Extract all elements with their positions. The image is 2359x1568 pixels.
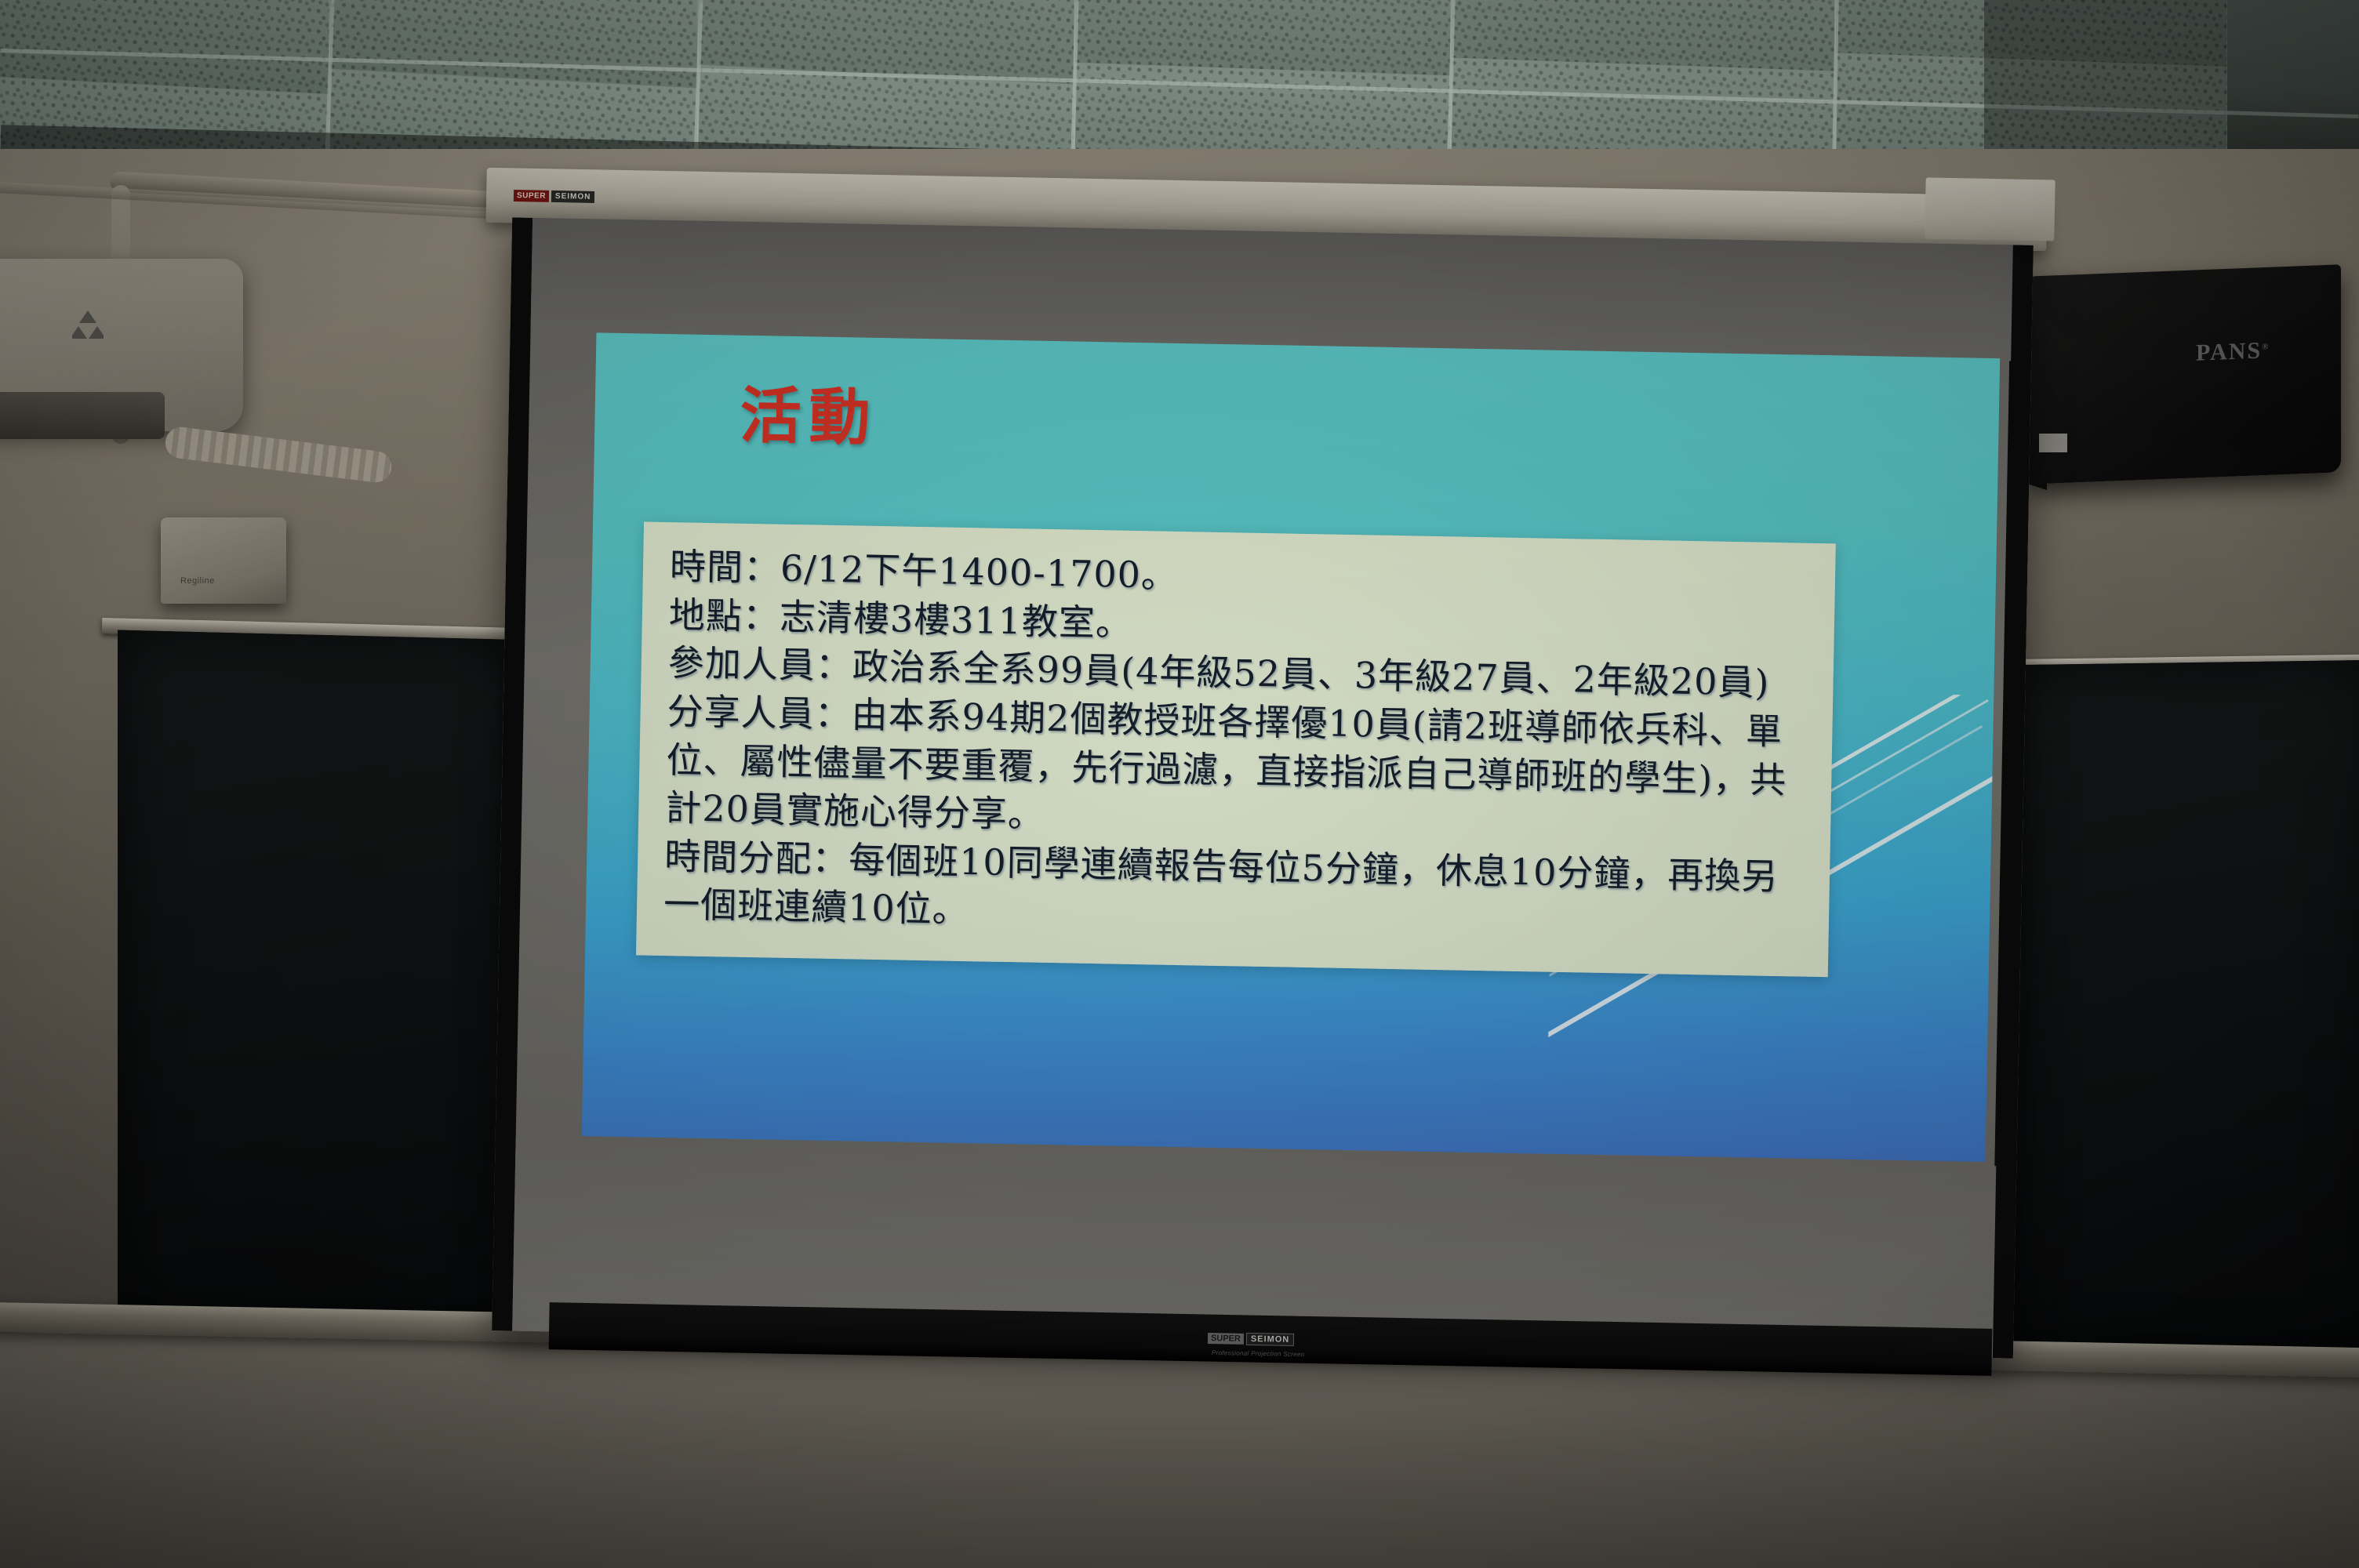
projection-screen-surface: 活動 時間：6/12下午1400-1700。 地點：志清樓3樓311教室。 參加…: [492, 217, 2034, 1358]
weightbar-brand-seimon: SEIMON: [1246, 1333, 1295, 1346]
blackboard-left: [118, 630, 533, 1330]
housing-brand-logo: SUPER SEIMON: [514, 190, 595, 203]
wall-mounted-control-box: [161, 517, 286, 604]
speaker-spec-sticker: [2039, 434, 2067, 452]
speaker-brand-label: PANS®: [2196, 337, 2270, 367]
weightbar-brand-super: SUPER: [1208, 1333, 1244, 1345]
slide-title: 活動: [740, 367, 879, 457]
projection-screen-housing-end-cap: [1925, 177, 2055, 241]
speaker-registered-mark: ®: [2262, 342, 2270, 351]
housing-brand-seimon: SEIMON: [551, 191, 595, 203]
wall-box-label: Regiline: [180, 576, 215, 586]
air-conditioner-vent: [0, 392, 165, 439]
slide-body-panel: 時間：6/12下午1400-1700。 地點：志清樓3樓311教室。 參加人員：…: [636, 521, 1836, 977]
wall-speaker: [2027, 264, 2341, 484]
classroom-scene: Regiline PANS® SUPER SEIMON 活動: [0, 0, 2359, 1568]
housing-brand-super: SUPER: [514, 190, 549, 202]
speaker-brand-text: PANS: [2196, 338, 2262, 366]
air-conditioner-brand-icon: [72, 307, 104, 343]
weight-bar-brand-logo: SUPER SEIMON: [1208, 1332, 1295, 1346]
slide-body-line: 時間分配：每個班10同學連續報告每位5分鐘，休息10分鐘，再換另一個班連續10位…: [663, 833, 1808, 950]
blackboard-right: [2008, 660, 2359, 1356]
projected-slide: 活動 時間：6/12下午1400-1700。 地點：志清樓3樓311教室。 參加…: [582, 332, 2000, 1162]
slide-body-line: 分享人員：由本系94期2個教授班各擇優10員(請2班導師依兵科、單位、屬性儘量不…: [665, 688, 1811, 854]
